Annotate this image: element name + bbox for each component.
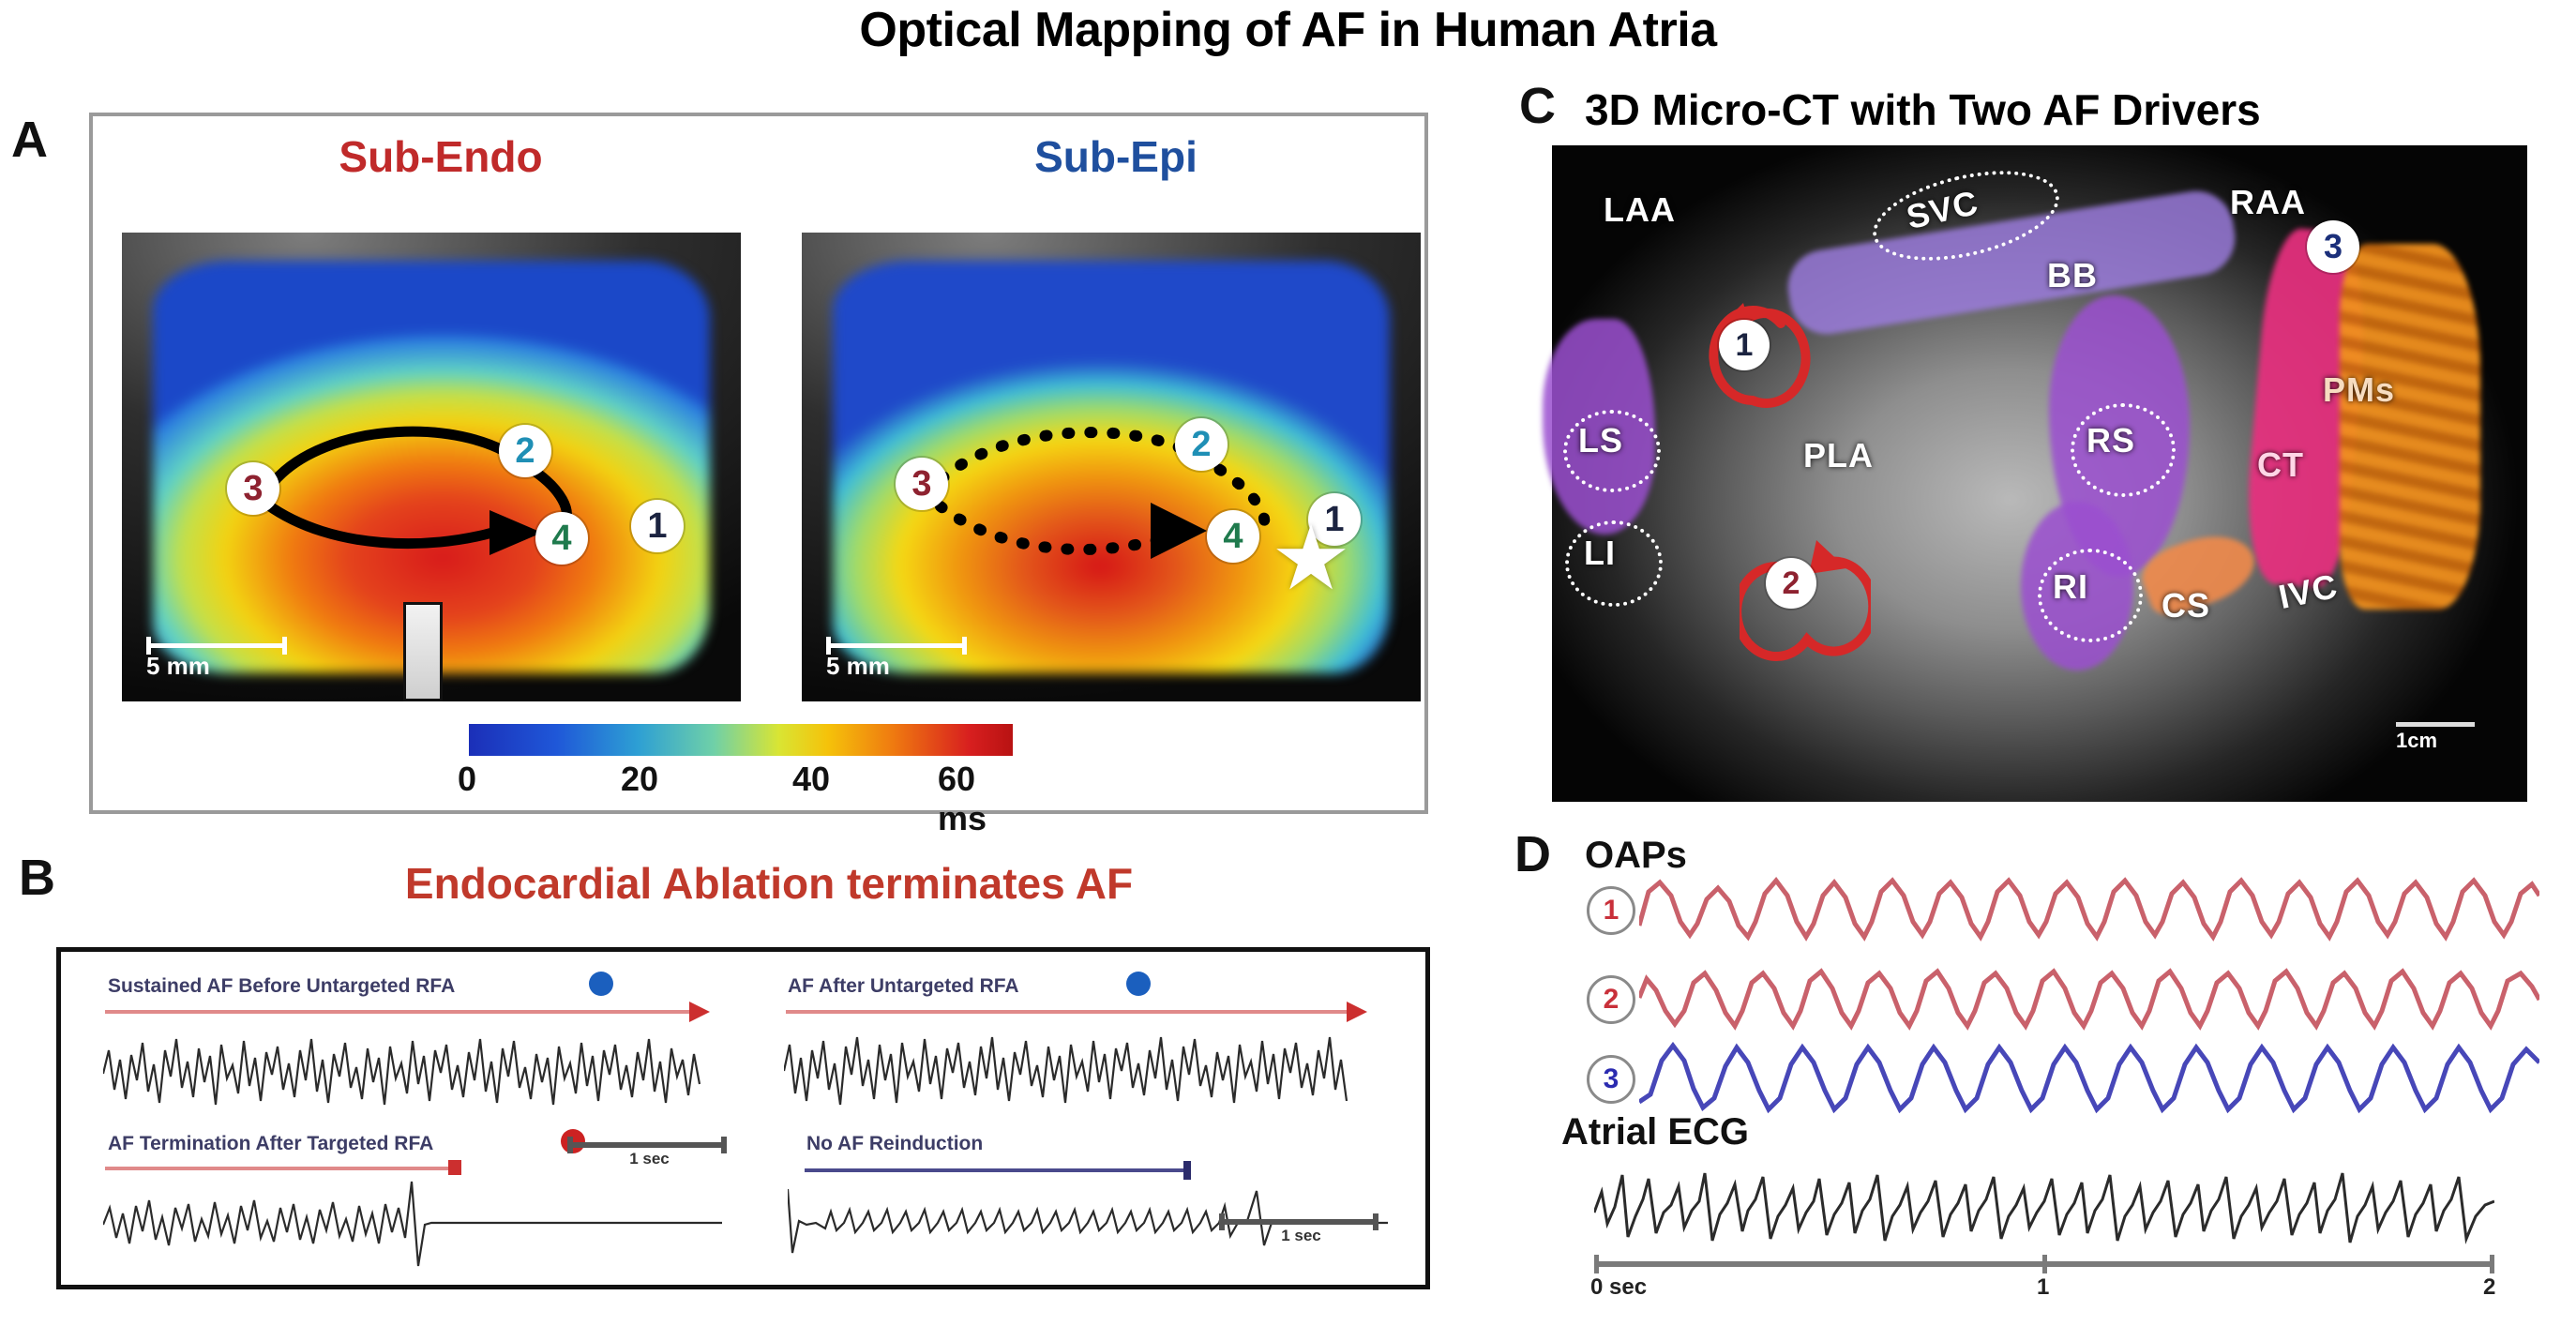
oap-trace-2-badge: 2: [1587, 975, 1635, 1024]
marker-4: 4: [535, 512, 588, 565]
scale-bar-1cm: 1cm: [2396, 722, 2475, 753]
label-rs: RS: [2086, 421, 2135, 460]
label-laa: LAA: [1604, 190, 1676, 230]
af-termination-line: [105, 1167, 452, 1170]
scale-bar-epi-label: 5 mm: [826, 652, 986, 681]
driver-2-badge: 2: [1766, 558, 1816, 609]
region-pectinate-muscles: [2340, 244, 2480, 610]
panel-a-letter: A: [11, 111, 48, 169]
marker-2: 2: [499, 425, 551, 477]
af-waveform-2: [784, 1022, 1384, 1125]
scale-bar-1cm-label: 1cm: [2396, 729, 2475, 753]
trace-label-af-after-untargeted: AF After Untargeted RFA: [788, 975, 1019, 998]
scale-bar-epi: 5 mm: [826, 643, 986, 681]
oap-trace-1: [1639, 867, 2539, 948]
scale-bar-1sec-left: 1 sec: [567, 1142, 731, 1168]
scale-bar-1sec-right-label: 1 sec: [1219, 1227, 1383, 1245]
label-ri: RI: [2053, 567, 2088, 607]
oap-trace-1-badge: 1: [1587, 886, 1635, 935]
label-ct: CT: [2257, 445, 2304, 485]
label-pms: PMs: [2323, 370, 2395, 410]
label-li: LI: [1584, 534, 1616, 573]
marker-4: 4: [1207, 510, 1259, 563]
label-bb: BB: [2047, 256, 2098, 295]
trace-label-sustained-af: Sustained AF Before Untargeted RFA: [108, 975, 455, 998]
electrode-marker: [403, 602, 443, 701]
af-duration-line: [105, 1010, 691, 1014]
time-label-2: 2: [2483, 1274, 2495, 1301]
sub-endo-title: Sub-Endo: [150, 131, 731, 182]
atrial-ecg-label: Atrial ECG: [1561, 1111, 1749, 1153]
driver-3-badge: 3: [2307, 220, 2359, 273]
trace-label-no-reinduction: No AF Reinduction: [806, 1133, 983, 1155]
panel-b-letter: B: [19, 849, 55, 907]
colorbar-tick-60: 60 ms: [938, 760, 1032, 838]
time-axis-line: [1594, 1261, 2494, 1267]
af-duration-arrowhead: [689, 1002, 710, 1022]
colorbar-tick-40: 40: [792, 760, 830, 799]
panel-d-letter: D: [1514, 825, 1551, 883]
scale-bar-1sec-left-label: 1 sec: [567, 1150, 731, 1168]
colorbar-gradient: [469, 724, 1013, 756]
tick-0: [1594, 1255, 1599, 1273]
activation-colorbar: 0 20 40 60 ms: [469, 724, 1032, 756]
trace-label-af-termination: AF Termination After Targeted RFA: [108, 1133, 433, 1155]
scale-bar-1sec-right: 1 sec: [1219, 1219, 1383, 1245]
marker-3: 3: [896, 458, 948, 510]
panel-c-letter: C: [1519, 77, 1556, 135]
colorbar-tick-20: 20: [621, 760, 658, 799]
oap-trace-2: [1639, 958, 2539, 1039]
label-ls: LS: [1578, 421, 1623, 460]
sub-epi-title: Sub-Epi: [825, 131, 1407, 182]
af-termination-endpoint: [448, 1160, 461, 1175]
marker-3: 3: [227, 462, 279, 515]
micro-ct-image: LAA SVC RAA BB PMs CT LS LI RS RI PLA CS…: [1552, 145, 2527, 802]
af-waveform-1: [103, 1022, 722, 1125]
oap-trace-3-badge: 3: [1587, 1055, 1635, 1104]
atrial-ecg-trace: [1594, 1158, 2494, 1261]
tick-1: [2042, 1255, 2047, 1273]
scale-bar-endo-label: 5 mm: [146, 652, 306, 681]
marker-1: 1: [631, 500, 684, 552]
af-termination-waveform: [103, 1180, 722, 1269]
figure-title: Optical Mapping of AF in Human Atria: [0, 2, 2576, 58]
star-marker: ★: [1271, 514, 1351, 604]
time-label-0: 0 sec: [1590, 1274, 1647, 1301]
untargeted-rfa-dot: [589, 972, 613, 996]
sub-endo-activation-map: 3 2 4 1 5 mm: [122, 233, 741, 701]
driver-1-badge: 1: [1719, 320, 1770, 370]
scale-bar-endo: 5 mm: [146, 643, 306, 681]
time-axis: 0 sec 1 2: [1594, 1261, 2494, 1267]
af-duration-line-2: [786, 1010, 1348, 1014]
marker-2: 2: [1175, 418, 1228, 471]
time-label-1: 1: [2037, 1274, 2049, 1301]
panel-c-title: 3D Micro-CT with Two AF Drivers: [1585, 84, 2261, 135]
scale-bar-1cm-line: [2396, 722, 2475, 727]
af-duration-arrowhead-2: [1347, 1002, 1367, 1022]
tick-2: [2490, 1255, 2494, 1273]
label-cs: CS: [2162, 586, 2210, 625]
panel-b-title: Endocardial Ablation terminates AF: [216, 858, 1322, 909]
colorbar-tick-0: 0: [458, 760, 476, 799]
label-raa: RAA: [2230, 183, 2306, 222]
oap-trace-3: [1639, 1036, 2539, 1121]
label-pla: PLA: [1803, 436, 1874, 475]
reentry-pathway-dotted: [802, 233, 1421, 701]
sub-epi-activation-map: 3 2 4 1 ★ 5 mm: [802, 233, 1421, 701]
no-reinduction-endcap: [1183, 1161, 1191, 1180]
no-reinduction-line: [805, 1168, 1189, 1172]
untargeted-rfa-dot-2: [1126, 972, 1151, 996]
